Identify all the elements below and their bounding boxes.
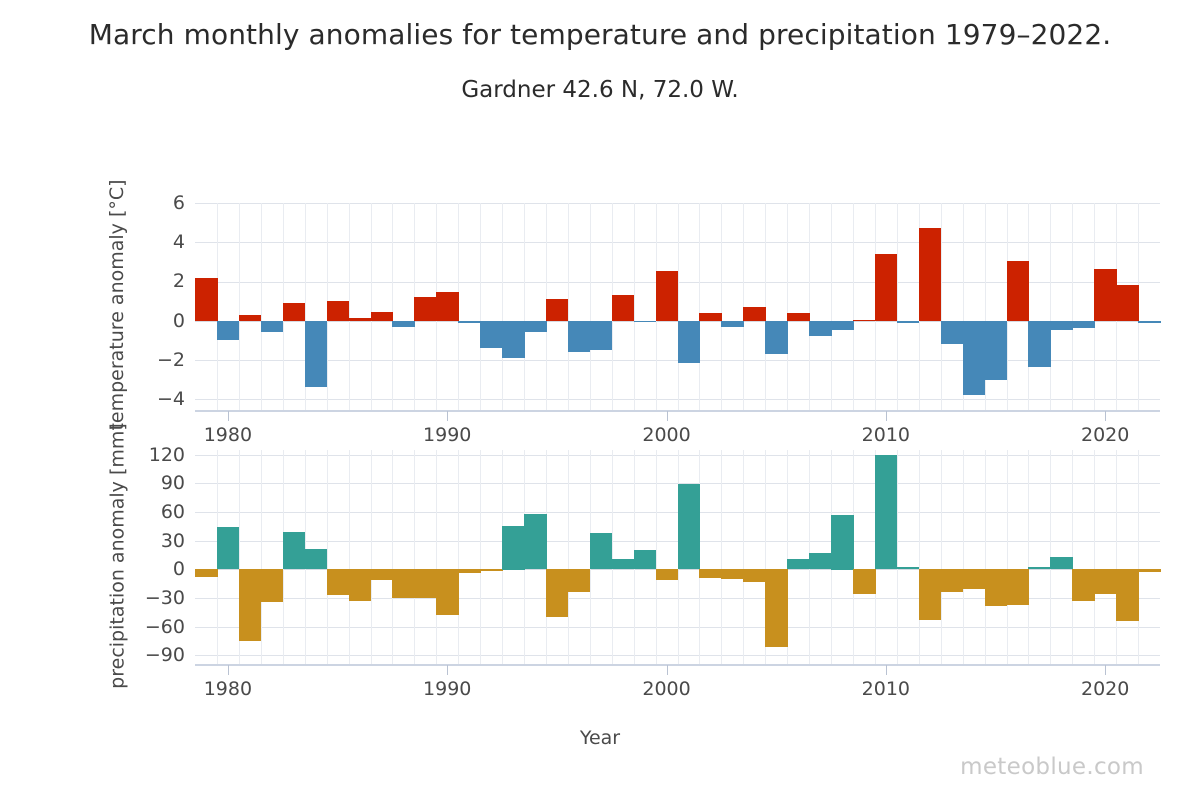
bar [941,321,964,345]
bar [283,303,306,321]
bar [831,321,854,331]
bar [721,569,744,579]
chart-subtitle: Gardner 42.6 N, 72.0 W. [0,54,1200,106]
bar [765,321,788,354]
x-tick-label: 1990 [423,678,471,700]
bar [1050,557,1073,569]
bar [568,569,591,592]
bar [1138,569,1161,572]
x-tick-label: 2010 [862,678,910,700]
bar [524,321,547,333]
x-tick-mark [667,665,668,675]
bar [502,526,525,570]
bar [1028,321,1051,367]
temperature-y-axis-label: temperature anomaly [°C] [105,171,129,439]
bar [963,321,986,396]
bar [941,569,964,592]
x-tick-label: 2000 [642,678,690,700]
bar [349,569,372,601]
x-axis-label: Year [0,727,1200,749]
bar [546,299,569,321]
bar [678,484,701,569]
x-tick-mark [886,665,887,675]
bar [1116,285,1139,320]
bar [239,569,262,641]
y-tick-label: −4 [133,388,185,410]
bar [414,297,437,321]
bar [809,553,832,569]
bar [1007,569,1030,604]
bar [261,321,284,333]
bar [546,569,569,617]
bar [195,569,218,577]
y-tick-label: 0 [133,310,185,332]
y-tick-label: 0 [133,558,185,580]
bar [436,292,459,321]
x-tick-label: 1980 [204,424,252,446]
precipitation-plot-area [195,450,1160,665]
bar [963,569,986,589]
y-tick-label: −60 [133,616,185,638]
y-tick-label: −30 [133,587,185,609]
bar [612,295,635,321]
bar [831,515,854,570]
x-tick-label: 2010 [862,424,910,446]
bar [1116,569,1139,621]
bar [568,321,591,352]
y-tick-label: 120 [133,444,185,466]
x-tick-label: 2020 [1081,678,1129,700]
bar [612,559,635,570]
x-tick-mark [447,665,448,675]
bar [985,569,1008,605]
bar [590,321,613,350]
y-tick-label: 6 [133,192,185,214]
y-tick-label: −90 [133,644,185,666]
bar [283,532,306,569]
chart-titles: March monthly anomalies for temperature … [0,0,1200,106]
bar [195,278,218,321]
bar [502,321,525,358]
bar [261,569,284,602]
bar [787,559,810,570]
bar [371,569,394,580]
bar [1138,321,1161,323]
x-tick-mark [447,411,448,421]
bar [897,567,920,570]
bar [853,320,876,321]
bar [919,569,942,620]
y-tick-label: 60 [133,501,185,523]
bar [656,569,679,580]
bar [985,321,1008,380]
x-tick-label: 1980 [204,678,252,700]
bar [392,569,415,598]
bar [1072,321,1095,328]
bar [458,569,481,573]
bar [809,321,832,337]
x-tick-label: 2000 [642,424,690,446]
bar [1094,269,1117,321]
bar [305,321,328,388]
bar [787,313,810,321]
chart-title: March monthly anomalies for temperature … [0,0,1200,54]
bar [634,550,657,569]
bar [414,569,437,598]
bar [590,533,613,569]
temperature-bars [195,203,1160,411]
bar [217,321,240,341]
y-tick-label: 4 [133,231,185,253]
bar [524,514,547,569]
x-tick-mark [1105,411,1106,421]
y-tick-label: 90 [133,472,185,494]
bar [678,321,701,363]
bar [919,228,942,321]
bar [743,569,766,581]
bar [305,549,328,569]
x-tick-label: 2020 [1081,424,1129,446]
bar [1050,321,1073,331]
precipitation-bars [195,450,1160,665]
x-tick-mark [1105,665,1106,675]
bar [875,455,898,570]
bar [239,315,262,321]
meteoblue-watermark: meteoblue.com [960,754,1144,780]
bar [1028,567,1051,570]
bar [327,569,350,595]
bar [327,301,350,321]
bar [436,569,459,615]
bar [1007,261,1030,321]
bar [743,307,766,321]
y-tick-label: 2 [133,270,185,292]
bar [853,569,876,594]
bar [1094,569,1117,594]
bar [897,321,920,323]
bar [699,313,722,321]
bar [480,569,503,571]
bar [656,271,679,321]
x-tick-mark [886,411,887,421]
x-tick-mark [228,665,229,675]
bar [634,321,657,322]
bar [765,569,788,646]
x-tick-mark [228,411,229,421]
x-tick-mark [667,411,668,421]
precipitation-y-axis-label: precipitation anomaly [mm] [105,418,129,693]
x-tick-label: 1990 [423,424,471,446]
bar [349,318,372,321]
y-tick-label: 30 [133,530,185,552]
bar [875,254,898,321]
bar [699,569,722,578]
bar [392,321,415,327]
bar [371,312,394,321]
y-tick-label: −2 [133,349,185,371]
bar [721,321,744,327]
temperature-plot-area [195,203,1160,411]
bar [1072,569,1095,601]
bar [217,527,240,569]
bar [458,321,481,323]
bar [480,321,503,349]
